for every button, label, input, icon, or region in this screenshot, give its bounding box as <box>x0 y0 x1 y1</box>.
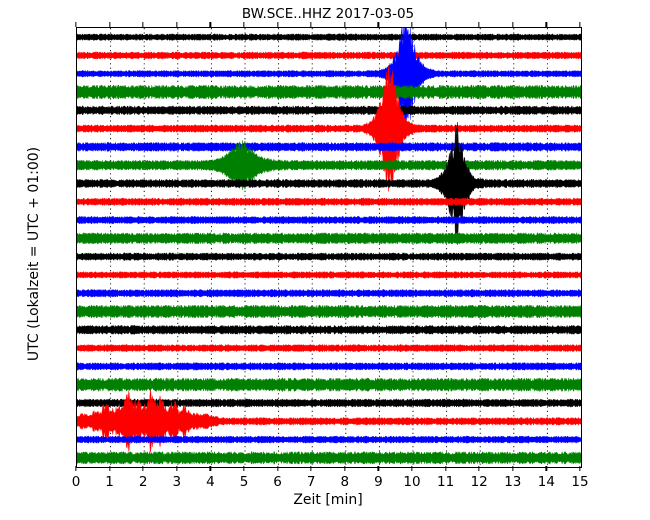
x-tick-label: 4 <box>206 474 215 490</box>
x-tick-mark-top <box>344 22 345 27</box>
x-tick-mark-top <box>277 22 278 27</box>
x-tick-mark <box>344 466 345 471</box>
y-tick-mark-right <box>575 328 580 329</box>
seismogram-trace <box>77 305 581 318</box>
y-axis-label: UTC (Lokalzeit = UTC + 01:00) <box>26 34 42 474</box>
x-tick-mark <box>210 466 211 471</box>
x-tick-mark <box>546 466 547 471</box>
seismogram-trace <box>77 122 581 245</box>
seismogram-trace <box>77 198 581 206</box>
x-tick-mark <box>176 466 177 471</box>
x-tick-label: 2 <box>139 474 148 490</box>
x-tick-mark <box>109 466 110 471</box>
x-tick-mark-top <box>109 22 110 27</box>
y-tick-mark <box>76 328 81 329</box>
x-tick-label: 3 <box>173 474 182 490</box>
y-tick-mark <box>76 182 81 183</box>
x-tick-mark-top <box>479 22 480 27</box>
y-tick-mark <box>76 35 81 36</box>
x-tick-mark-top <box>243 22 244 27</box>
x-tick-label: 1 <box>105 474 114 490</box>
x-tick-mark <box>579 466 580 471</box>
x-tick-label: 15 <box>571 474 588 490</box>
seismogram-trace <box>77 142 581 151</box>
seismogram-trace <box>77 52 581 59</box>
x-tick-label: 9 <box>374 474 383 490</box>
x-tick-label: 5 <box>240 474 249 490</box>
x-tick-mark <box>445 466 446 471</box>
x-tick-label: 0 <box>72 474 81 490</box>
x-tick-mark <box>512 466 513 471</box>
seismogram-trace <box>77 28 581 138</box>
y-tick-mark-right <box>575 401 580 402</box>
seismogram-trace <box>77 363 581 371</box>
x-tick-mark <box>311 466 312 471</box>
x-tick-mark <box>243 466 244 471</box>
trace-layer <box>77 28 581 467</box>
x-tick-mark <box>479 466 480 471</box>
x-tick-mark-top <box>411 22 412 27</box>
seismogram-figure: BW.SCE..HHZ 2017-03-05 01234567891011121… <box>0 0 650 520</box>
seismogram-trace <box>77 106 581 115</box>
y-tick-mark-right <box>575 182 580 183</box>
seismogram-trace <box>77 66 581 192</box>
x-tick-mark <box>75 466 76 471</box>
seismogram-trace <box>77 325 581 334</box>
x-tick-mark-top <box>579 22 580 27</box>
x-tick-label: 12 <box>471 474 488 490</box>
x-tick-label: 14 <box>538 474 555 490</box>
y-tick-mark-right <box>575 35 580 36</box>
y-tick-mark <box>76 109 81 110</box>
x-tick-mark-top <box>75 22 76 27</box>
y-tick-mark-right <box>575 109 580 110</box>
x-tick-label: 6 <box>273 474 282 490</box>
x-tick-mark <box>143 466 144 471</box>
x-tick-label: 8 <box>341 474 350 490</box>
plot-axes <box>76 27 582 468</box>
x-tick-label: 11 <box>437 474 454 490</box>
x-tick-mark-top <box>210 22 211 27</box>
x-tick-mark-top <box>311 22 312 27</box>
seismogram-trace <box>77 85 581 99</box>
x-tick-mark-top <box>512 22 513 27</box>
x-tick-label: 10 <box>403 474 420 490</box>
x-tick-mark-top <box>445 22 446 27</box>
y-tick-mark-right <box>575 255 580 256</box>
seismogram-trace <box>77 216 581 224</box>
y-tick-mark <box>76 401 81 402</box>
seismogram-trace <box>77 233 581 244</box>
seismogram-trace <box>77 34 581 41</box>
y-tick-mark <box>76 255 81 256</box>
seismogram-trace <box>77 452 581 464</box>
seismogram-trace <box>77 378 581 392</box>
x-tick-mark <box>411 466 412 471</box>
x-tick-mark-top <box>143 22 144 27</box>
x-tick-mark-top <box>546 22 547 27</box>
page-title: BW.SCE..HHZ 2017-03-05 <box>76 6 580 22</box>
x-tick-mark-top <box>176 22 177 27</box>
seismogram-trace <box>77 344 581 351</box>
x-tick-mark <box>378 466 379 471</box>
x-axis-label: Zeit [min] <box>76 492 580 508</box>
seismogram-trace <box>77 289 581 297</box>
seismogram-trace <box>77 253 581 261</box>
x-tick-label: 7 <box>307 474 316 490</box>
x-tick-mark <box>277 466 278 471</box>
seismogram-trace <box>77 272 581 279</box>
x-tick-label: 13 <box>504 474 521 490</box>
x-tick-mark-top <box>378 22 379 27</box>
